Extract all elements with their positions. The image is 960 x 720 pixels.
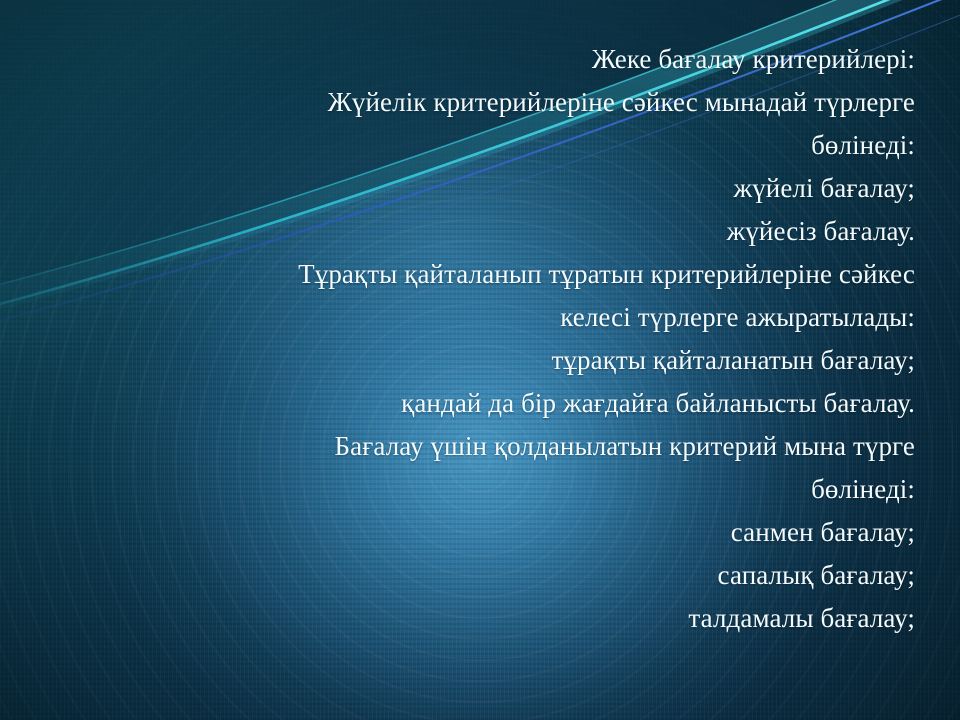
text-line: Жүйелік критерийлеріне сәйкес мынадай тү…: [60, 81, 915, 124]
text-line: қандай да бір жағдайға байланысты бағала…: [60, 382, 915, 425]
text-line: тұрақты қайталанатын бағалау;: [60, 339, 915, 382]
text-line: талдамалы бағалау;: [60, 597, 915, 640]
text-line: сапалық бағалау;: [60, 554, 915, 597]
presentation-slide: Жеке бағалау критерийлері: Жүйелік крите…: [0, 0, 960, 720]
text-line: бөлінеді:: [60, 468, 915, 511]
slide-text-body: Жеке бағалау критерийлері: Жүйелік крите…: [60, 38, 915, 640]
text-line: Бағалау үшін қолданылатын критерий мына …: [60, 425, 915, 468]
text-line: келесі түрлерге ажыратылады:: [60, 296, 915, 339]
text-line: жүйесіз бағалау.: [60, 210, 915, 253]
text-line: жүйелі бағалау;: [60, 167, 915, 210]
text-line: Тұрақты қайталанып тұратын критерийлерін…: [60, 253, 915, 296]
text-line: санмен бағалау;: [60, 511, 915, 554]
text-line: Жеке бағалау критерийлері:: [60, 38, 915, 81]
text-line: бөлінеді:: [60, 124, 915, 167]
